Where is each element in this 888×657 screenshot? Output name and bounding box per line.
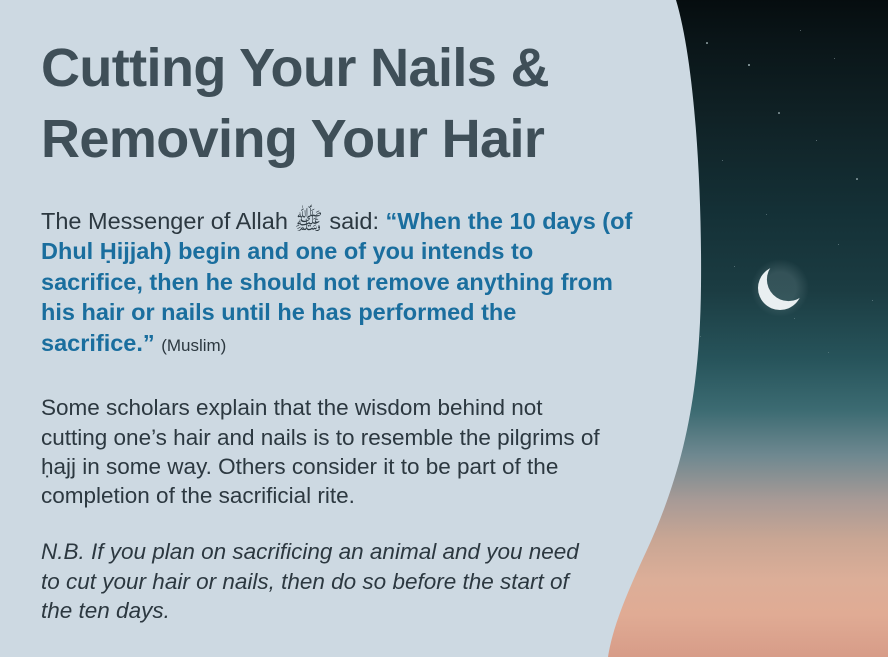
note-bene-paragraph: N.B. If you plan on sacrificing an anima… bbox=[41, 510, 601, 625]
card-content: Cutting Your Nails & Removing Your Hair … bbox=[41, 0, 641, 625]
content-card: Cutting Your Nails & Removing Your Hair … bbox=[0, 0, 720, 657]
scholars-explanation-paragraph: Some scholars explain that the wisdom be… bbox=[41, 358, 611, 510]
hadith-lead-after: said: bbox=[323, 208, 386, 234]
poster-canvas: Cutting Your Nails & Removing Your Hair … bbox=[0, 0, 888, 657]
hadith-block: The Messenger of Allah ﷺ said: “When the… bbox=[41, 176, 636, 359]
page-title: Cutting Your Nails & Removing Your Hair bbox=[41, 0, 641, 176]
hadith-lead: The Messenger of Allah bbox=[41, 208, 294, 234]
crescent-moon-icon bbox=[750, 258, 810, 318]
hadith-source: (Muslim) bbox=[161, 336, 226, 355]
peace-be-upon-him-icon: ﷺ bbox=[294, 208, 322, 234]
